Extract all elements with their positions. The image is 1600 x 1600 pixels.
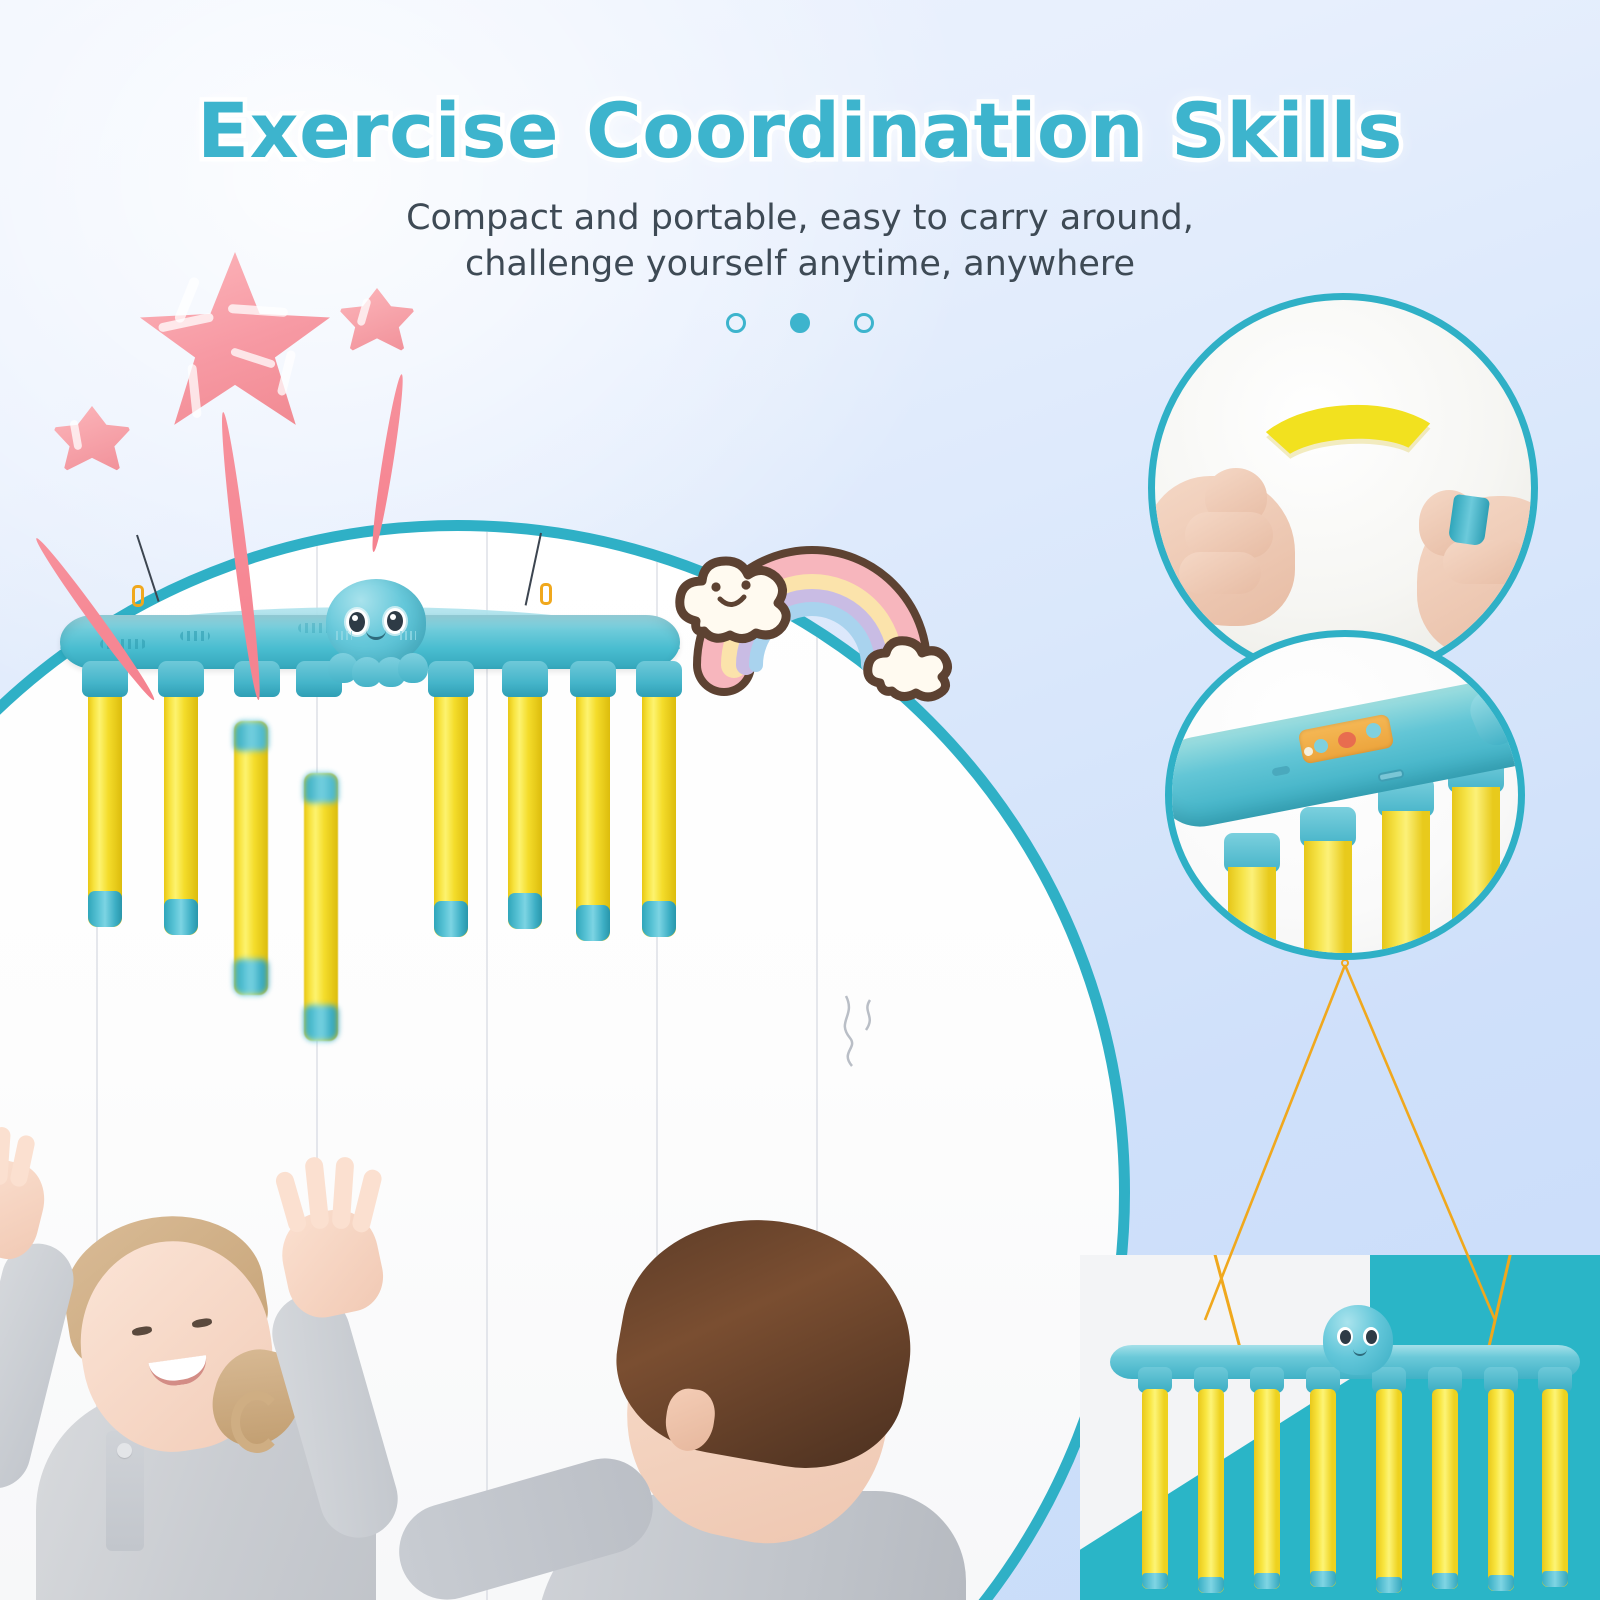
page-title: Exercise Coordination Skills: [0, 86, 1600, 175]
subtitle-line-1: Compact and portable, easy to carry arou…: [0, 195, 1600, 241]
pull-stick: [1542, 1389, 1568, 1587]
pull-stick: [1432, 1389, 1458, 1589]
pull-stick[interactable]: [642, 687, 676, 937]
falling-pull-stick: [234, 721, 268, 995]
stick-teal-cap: [1448, 494, 1490, 547]
flexible-stick-bending-demo: [1148, 293, 1538, 683]
pull-stick: [1310, 1389, 1336, 1587]
control-panel-closeup: [1165, 630, 1525, 960]
falling-pull-stick: [304, 773, 338, 1041]
girl-reaching-up: [0, 1091, 466, 1600]
pull-stick[interactable]: [508, 687, 542, 929]
pull-stick: [1198, 1389, 1224, 1593]
pull-stick[interactable]: [164, 687, 198, 935]
boy-looking-up: [416, 1151, 976, 1600]
pagination-dots[interactable]: [0, 313, 1600, 333]
pull-stick[interactable]: [88, 687, 122, 927]
smiling-cloud-icon: [680, 561, 786, 639]
pink-flower-icon: [52, 406, 132, 478]
pull-stick[interactable]: [434, 687, 468, 937]
cloud-rainbow-sticker: [672, 525, 972, 705]
pagination-dot-2[interactable]: [790, 313, 810, 333]
pull-stick[interactable]: [576, 687, 610, 941]
rainbow-icon: [672, 525, 972, 705]
pull-stick: [1376, 1389, 1402, 1593]
pagination-dot-1[interactable]: [726, 313, 746, 333]
pull-stick: [1142, 1389, 1168, 1589]
header: Exercise Coordination Skills Compact and…: [0, 0, 1600, 333]
pull-stick: [1254, 1389, 1280, 1589]
wall-scribble-icon: [826, 986, 916, 1076]
octopus-stick-pull-toy: [40, 575, 700, 1045]
subtitle-line-2: challenge yourself anytime, anywhere: [0, 241, 1600, 287]
cloud-icon: [868, 641, 948, 697]
pull-stick: [1488, 1389, 1514, 1591]
page-subtitle: Compact and portable, easy to carry arou…: [0, 195, 1600, 287]
product-hanging-photo: [1080, 1255, 1600, 1600]
octopus-mascot-icon: [1323, 1305, 1393, 1375]
pagination-dot-3[interactable]: [854, 313, 874, 333]
